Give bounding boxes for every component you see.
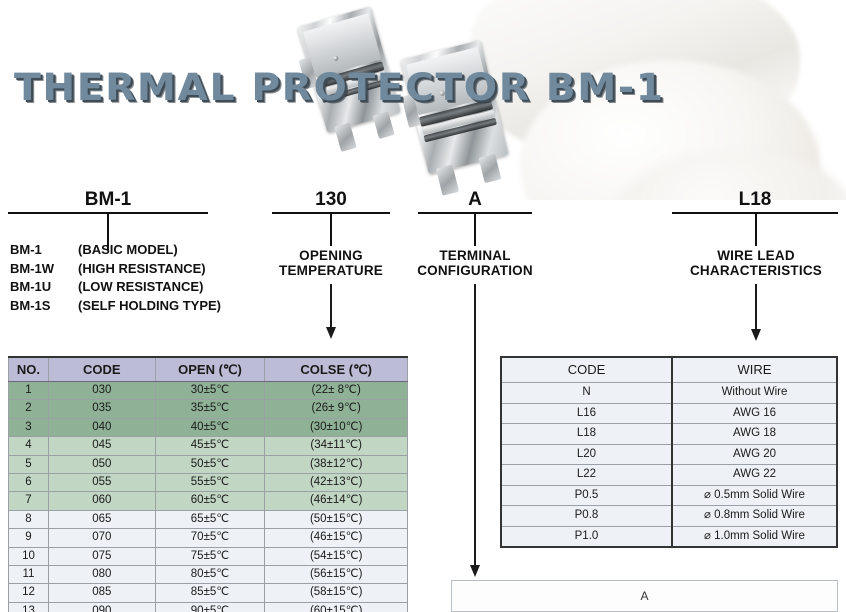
- table-row: 1309090±5℃(60±15℃): [9, 602, 408, 612]
- cell-open: 55±5℃: [155, 474, 265, 492]
- model-variant-name: BM-1U: [10, 278, 78, 297]
- cell-no: 6: [9, 474, 49, 492]
- table-row: 103030±5℃(22± 8℃): [9, 382, 408, 400]
- cell-code: 065: [48, 510, 155, 528]
- model-variant-name: BM-1W: [10, 260, 78, 279]
- table-row: 605555±5℃(42±13℃): [9, 474, 408, 492]
- cell-open: 40±5℃: [155, 418, 265, 436]
- opening-temperature-arrow: [330, 284, 332, 328]
- cell-code: 050: [48, 455, 155, 473]
- cell-wire-type: AWG 20: [672, 444, 837, 465]
- table-row: 806565±5℃(50±15℃): [9, 510, 408, 528]
- column-header-close: COLSE (℃): [265, 357, 408, 382]
- wire-code-table: CODE WIRE NWithout WireL16AWG 16L18AWG 1…: [500, 356, 838, 548]
- datasheet-page: THERMAL PROTECTOR BM-1 BM-1 130 A L18 OP…: [0, 0, 846, 612]
- cell-open: 90±5℃: [155, 602, 265, 612]
- terminal-configuration-arrow: [474, 284, 476, 566]
- cell-open: 50±5℃: [155, 455, 265, 473]
- cell-no: 2: [9, 400, 49, 418]
- opening-temperature-line2: TEMPERATURE: [265, 263, 397, 278]
- model-variant-row: BM-1(BASIC MODEL): [10, 241, 221, 260]
- table-row: P0.5⌀ 0.5mm Solid Wire: [501, 485, 837, 506]
- model-variant-row: BM-1S(SELF HOLDING TYPE): [10, 297, 221, 316]
- wire-lead-line2: CHARACTERISTICS: [683, 263, 829, 278]
- table-row: P0.8⌀ 0.8mm Solid Wire: [501, 506, 837, 527]
- cell-wire-type: AWG 18: [672, 424, 837, 445]
- model-variant-description: (SELF HOLDING TYPE): [78, 298, 221, 313]
- cell-wire-type: AWG 16: [672, 403, 837, 424]
- cell-code: 030: [48, 382, 155, 400]
- model-variant-list: BM-1(BASIC MODEL) BM-1W(HIGH RESISTANCE)…: [10, 241, 221, 315]
- cell-open: 45±5℃: [155, 437, 265, 455]
- cell-code: 085: [48, 584, 155, 602]
- page-title: THERMAL PROTECTOR BM-1: [14, 66, 665, 109]
- cell-close: (58±15℃): [265, 584, 408, 602]
- cell-close: (54±15℃): [265, 547, 408, 565]
- cell-wire-type: Without Wire: [672, 383, 837, 404]
- wire-lead-line1: WIRE LEAD: [683, 248, 829, 263]
- cell-wire-type: AWG 22: [672, 465, 837, 486]
- temperature-leader-line: [330, 214, 332, 246]
- column-header-wire-code: CODE: [501, 357, 672, 383]
- terminal-configuration-line1: TERMINAL: [406, 248, 544, 263]
- cell-close: (46±15℃): [265, 529, 408, 547]
- cell-close: (30±10℃): [265, 418, 408, 436]
- table-row: L18AWG 18: [501, 424, 837, 445]
- cell-close: (34±11℃): [265, 437, 408, 455]
- opening-temperature-line1: OPENING: [265, 248, 397, 263]
- cell-no: 11: [9, 566, 49, 584]
- terminal-configuration-box: A: [451, 580, 838, 612]
- cell-wire-code: L20: [501, 444, 672, 465]
- cell-wire-code: P0.5: [501, 485, 672, 506]
- terminal-leader-line: [474, 214, 476, 246]
- table-row: P1.0⌀ 1.0mm Solid Wire: [501, 526, 837, 547]
- column-header-no: NO.: [9, 357, 49, 382]
- cell-open: 70±5℃: [155, 529, 265, 547]
- table-row: L16AWG 16: [501, 403, 837, 424]
- cell-wire-code: P1.0: [501, 526, 672, 547]
- table-header-row: NO. CODE OPEN (℃) COLSE (℃): [9, 357, 408, 382]
- cell-close: (60±15℃): [265, 602, 408, 612]
- cell-close: (38±12℃): [265, 455, 408, 473]
- model-variant-row: BM-1W(HIGH RESISTANCE): [10, 260, 221, 279]
- table-row: 1007575±5℃(54±15℃): [9, 547, 408, 565]
- model-variant-description: (HIGH RESISTANCE): [78, 261, 206, 276]
- cell-no: 10: [9, 547, 49, 565]
- cell-no: 9: [9, 529, 49, 547]
- table-row: 907070±5℃(46±15℃): [9, 529, 408, 547]
- cell-no: 4: [9, 437, 49, 455]
- cell-close: (22± 8℃): [265, 382, 408, 400]
- cell-code: 035: [48, 400, 155, 418]
- code-segment-terminal-value: A: [418, 189, 532, 211]
- column-header-code: CODE: [48, 357, 155, 382]
- cell-code: 060: [48, 492, 155, 510]
- code-segment-model: BM-1: [8, 186, 208, 214]
- cell-close: (26± 9℃): [265, 400, 408, 418]
- table-header-row: CODE WIRE: [501, 357, 837, 383]
- cell-open: 60±5℃: [155, 492, 265, 510]
- cell-wire-code: N: [501, 383, 672, 404]
- code-segment-model-value: BM-1: [8, 189, 208, 211]
- code-segment-temperature-value: 130: [272, 189, 390, 211]
- terminal-configuration-description: TERMINAL CONFIGURATION: [406, 248, 544, 278]
- model-variant-description: (BASIC MODEL): [78, 242, 178, 257]
- cell-wire-type: ⌀ 0.5mm Solid Wire: [672, 485, 837, 506]
- cell-no: 12: [9, 584, 49, 602]
- wire-lead-arrow: [755, 284, 757, 330]
- wire-leader-line: [755, 214, 757, 246]
- table-row: 404545±5℃(34±11℃): [9, 437, 408, 455]
- cell-open: 85±5℃: [155, 584, 265, 602]
- cell-open: 30±5℃: [155, 382, 265, 400]
- table-row: 1208585±5℃(58±15℃): [9, 584, 408, 602]
- model-variant-name: BM-1: [10, 241, 78, 260]
- cell-close: (50±15℃): [265, 510, 408, 528]
- table-row: L22AWG 22: [501, 465, 837, 486]
- table-row: 304040±5℃(30±10℃): [9, 418, 408, 436]
- table-row: 706060±5℃(46±14℃): [9, 492, 408, 510]
- cell-open: 75±5℃: [155, 547, 265, 565]
- column-header-open: OPEN (℃): [155, 357, 265, 382]
- temperature-code-table: NO. CODE OPEN (℃) COLSE (℃) 103030±5℃(22…: [8, 356, 408, 612]
- column-header-wire-type: WIRE: [672, 357, 837, 383]
- cell-code: 080: [48, 566, 155, 584]
- table-row: 203535±5℃(26± 9℃): [9, 400, 408, 418]
- cell-code: 055: [48, 474, 155, 492]
- cell-no: 5: [9, 455, 49, 473]
- model-variant-name: BM-1S: [10, 297, 78, 316]
- wire-lead-description: WIRE LEAD CHARACTERISTICS: [683, 248, 829, 278]
- cell-wire-type: ⌀ 0.8mm Solid Wire: [672, 506, 837, 527]
- cell-code: 090: [48, 602, 155, 612]
- cell-no: 1: [9, 382, 49, 400]
- model-variant-description: (LOW RESISTANCE): [78, 279, 203, 294]
- cell-close: (46±14℃): [265, 492, 408, 510]
- cell-open: 35±5℃: [155, 400, 265, 418]
- cell-wire-code: L16: [501, 403, 672, 424]
- table-row: 505050±5℃(38±12℃): [9, 455, 408, 473]
- cell-no: 3: [9, 418, 49, 436]
- table-row: L20AWG 20: [501, 444, 837, 465]
- cell-wire-code: L18: [501, 424, 672, 445]
- cell-code: 070: [48, 529, 155, 547]
- code-segment-temperature: 130: [272, 186, 390, 214]
- cell-no: 13: [9, 602, 49, 612]
- cell-wire-code: L22: [501, 465, 672, 486]
- code-segment-wire: L18: [672, 186, 838, 214]
- cell-open: 65±5℃: [155, 510, 265, 528]
- cell-open: 80±5℃: [155, 566, 265, 584]
- code-segment-wire-value: L18: [672, 189, 838, 211]
- cell-close: (56±15℃): [265, 566, 408, 584]
- opening-temperature-description: OPENING TEMPERATURE: [265, 248, 397, 278]
- cell-code: 045: [48, 437, 155, 455]
- cell-no: 8: [9, 510, 49, 528]
- cell-wire-type: ⌀ 1.0mm Solid Wire: [672, 526, 837, 547]
- code-segment-terminal: A: [418, 186, 532, 214]
- table-row: 1108080±5℃(56±15℃): [9, 566, 408, 584]
- table-row: NWithout Wire: [501, 383, 837, 404]
- terminal-configuration-line2: CONFIGURATION: [406, 263, 544, 278]
- cell-code: 040: [48, 418, 155, 436]
- cell-code: 075: [48, 547, 155, 565]
- model-variant-row: BM-1U(LOW RESISTANCE): [10, 278, 221, 297]
- cell-wire-code: P0.8: [501, 506, 672, 527]
- cell-close: (42±13℃): [265, 474, 408, 492]
- cell-no: 7: [9, 492, 49, 510]
